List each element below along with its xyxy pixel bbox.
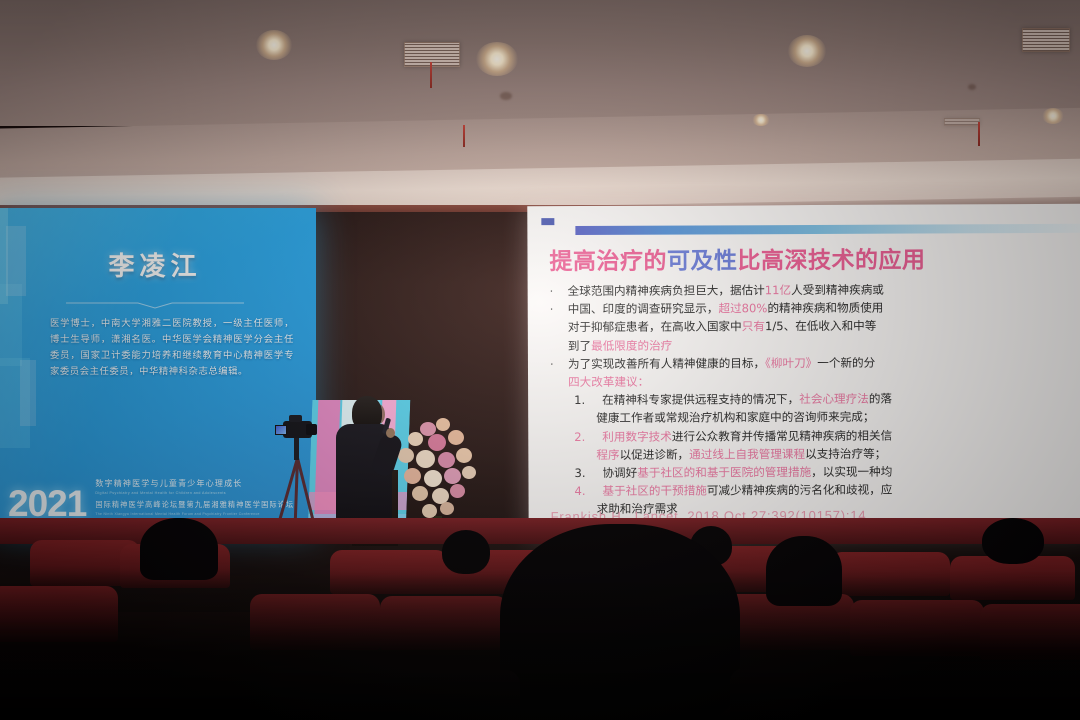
sprinkler-pipe	[463, 125, 465, 147]
screen-decor-block	[20, 360, 36, 426]
slide-numbered-line: 1.在精神科专家提供远程支持的情况下，社会心理疗法的落	[550, 389, 1080, 410]
speaker-bio: 医学博士，中南大学湘雅二医院教授，一级主任医师，博士生导师，潇湘名医。中华医学会…	[50, 316, 294, 380]
slide-text: 健康工作者或常规治疗机构和家庭中的咨询师来完成；	[596, 410, 874, 425]
ceiling-vent	[404, 42, 460, 67]
slide-text: 1/5、在低收入和中等	[765, 319, 876, 333]
sprinkler-pipe	[430, 62, 432, 88]
slide-highlight-text: 超过80%	[718, 301, 767, 315]
audience-area	[0, 518, 1080, 720]
slide-highlight-text: 利用数字技术	[602, 429, 672, 443]
slide-text: 到了	[568, 339, 591, 353]
event-logo: 2021 数字精神医学与儿童青少年心理成长 Digital Psychiatry…	[8, 478, 294, 520]
slide-bullet-line: 对于抑郁症患者，在高收入国家中只有1/5、在低收入和中等	[550, 316, 1080, 337]
ceiling-smudge	[500, 92, 512, 100]
slide-bullet-line: ·为了实现改善所有人精神健康的目标，《柳叶刀》一个新的分	[550, 353, 1080, 374]
slide-numbered-line: 2.利用数字技术进行公众教育并传播常见精神疾病的相关信	[550, 425, 1080, 446]
ceiling-smudge	[968, 84, 976, 90]
slide-text: 为了实现改善所有人精神健康的目标，	[568, 356, 765, 371]
slide-highlight-text: 《柳叶刀》	[765, 356, 817, 370]
ceiling-spotlight	[476, 42, 518, 76]
slide-text: 人受到精神疾病或	[791, 283, 884, 297]
left-projection-screen: 李凌江 医学博士，中南大学湘雅二医院教授，一级主任医师，博士生导师，潇湘名医。中…	[0, 208, 316, 534]
sprinkler-pipe	[978, 122, 980, 146]
list-number: 4.	[574, 482, 594, 500]
slide-highlight-text: 程序	[596, 448, 619, 462]
slide-highlight-text: 四大改革建议：	[568, 375, 649, 389]
ceiling-vent	[1022, 28, 1070, 52]
slide-text: 协调好	[602, 466, 637, 480]
slide-text: 对于抑郁症患者，在高收入国家中	[568, 320, 742, 335]
slide-highlight-text: 社会心理疗法	[799, 392, 869, 406]
slide-bullet-line: 到了最低限度的治疗	[550, 334, 1080, 355]
slide-highlight-text: 基于社区的和基于医院的管理措施	[637, 465, 811, 480]
ceiling-spotlight	[256, 30, 292, 60]
event-year: 2021	[8, 487, 86, 520]
slide-body: ·全球范围内精神疾病负担巨大，据估计11亿人受到精神疾病或·中国、印度的调查研究…	[550, 280, 1080, 519]
slide-numbered-line: 程序以促进诊断，通过线上自我管理课程以支持治疗等；	[550, 444, 1080, 465]
slide-title: 提高治疗的可及性比高深技术的应用	[549, 240, 1080, 276]
list-number: 1.	[574, 391, 594, 409]
event-subtitle-cn: 国际精神医学高峰论坛暨第九届湘雅精神医学国际论坛	[95, 500, 294, 510]
slide-highlight-text: 基于社区的干预措施	[602, 484, 706, 498]
slide-highlight-text: 通过线上自我管理课程	[689, 447, 805, 462]
slide-text: 中国、印度的调查研究显示，	[568, 302, 719, 317]
ceiling-spotlight	[788, 35, 826, 67]
event-subtitle-en: The Ninth Xiangya International Mental H…	[95, 512, 294, 516]
bullet-icon: ·	[550, 300, 560, 318]
divider-swoosh-icon	[66, 299, 244, 309]
slide-header-bar	[575, 224, 1080, 235]
slide-title-part3: 比高深技术的应用	[737, 247, 925, 274]
slide-text: 以支持治疗等；	[805, 446, 886, 460]
slide-text: 的精神疾病和物质使用	[767, 301, 883, 316]
slide-text: 全球范围内精神疾病负担巨大，据估计	[568, 283, 765, 298]
camera-handle	[289, 415, 302, 422]
slide-numbered-line: 4.基于社区的干预措施可减少精神疾病的污名化和歧视，应	[550, 480, 1080, 501]
event-title-en: Digital Psychiatry and Mental Health for…	[95, 491, 294, 495]
list-number: 3.	[574, 464, 594, 482]
screen-decor-block	[0, 284, 22, 366]
foreground-shadow	[0, 570, 1080, 720]
slide-text: 进行公众教育并传播常见精神疾病的相关信	[672, 428, 892, 443]
speaker-name: 李凌江	[0, 246, 316, 283]
slide-title-part2: 可及性	[667, 248, 738, 274]
slide-highlight-text: 最低限度的治疗	[591, 338, 672, 352]
bullet-icon: ·	[550, 355, 560, 373]
tripod-column	[294, 438, 299, 460]
slide-title-part1: 提高治疗的	[549, 249, 667, 276]
list-number: 2.	[574, 428, 594, 446]
right-projection-screen: 提高治疗的可及性比高深技术的应用 ·全球范围内精神疾病负担巨大，据估计11亿人受…	[527, 204, 1080, 536]
slide-bullet-line: ·全球范围内精神疾病负担巨大，据估计11亿人受到精神疾病或	[550, 280, 1080, 301]
slide-text: 的落	[869, 392, 892, 406]
slide-bullet-line: 四大改革建议：	[550, 371, 1080, 392]
ceiling-vent	[944, 118, 980, 126]
camera-viewfinder-screen	[275, 425, 287, 435]
audience-head	[442, 530, 490, 574]
camera-lens-icon	[306, 424, 317, 435]
audience-head	[982, 518, 1044, 564]
slide-highlight-text: 11亿	[765, 283, 791, 297]
slide-text: 在精神科专家提供远程支持的情况下，	[602, 392, 799, 407]
ceiling-spotlight	[1042, 108, 1064, 124]
slide-numbered-line: 健康工作者或常规治疗机构和家庭中的咨询师来完成；	[550, 407, 1080, 428]
speaker-hand	[386, 428, 395, 438]
slide-text: 一个新的分	[817, 356, 875, 370]
slide-numbered-line: 3.协调好基于社区的和基于医院的管理措施，以实现一种均	[550, 462, 1080, 483]
slide-text: 以促进诊断，	[620, 447, 690, 461]
bullet-icon: ·	[550, 282, 560, 300]
slide-text: ，以实现一种均	[811, 465, 892, 479]
slide-bullet-line: ·中国、印度的调查研究显示，超过80%的精神疾病和物质使用	[550, 298, 1080, 319]
name-divider	[66, 296, 244, 306]
ceiling-upper	[0, 0, 1080, 126]
conference-hall-photo: 李凌江 医学博士，中南大学湘雅二医院教授，一级主任医师，博士生导师，潇湘名医。中…	[0, 0, 1080, 720]
slide-marker-icon	[541, 218, 554, 225]
ceiling-spotlight	[752, 114, 770, 126]
slide-text: 可减少精神疾病的污名化和歧视，应	[707, 483, 893, 498]
event-title-cn: 数字精神医学与儿童青少年心理成长	[95, 478, 294, 489]
slide-highlight-text: 只有	[742, 320, 765, 334]
